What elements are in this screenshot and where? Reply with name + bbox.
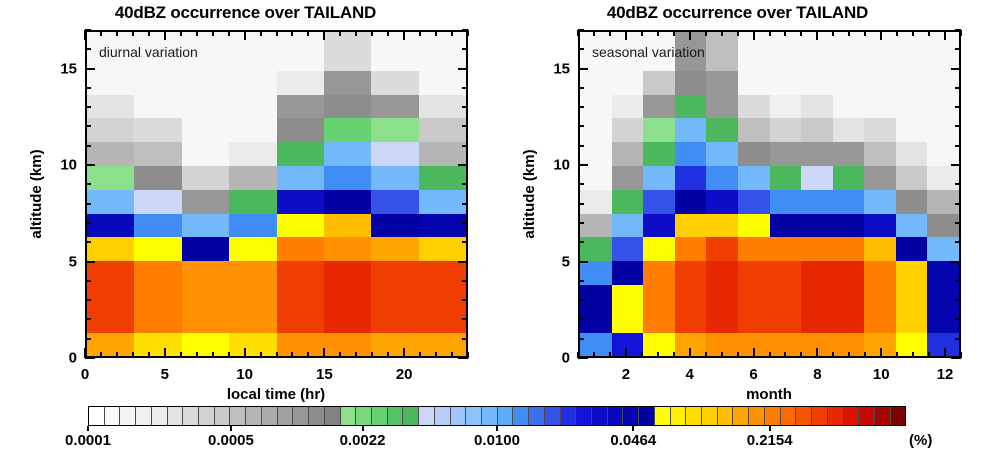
yaxis-minor-tick (578, 222, 584, 224)
heatmap-cell (833, 189, 865, 213)
heatmap-cell (675, 32, 707, 71)
heatmap-cell (706, 237, 738, 261)
heatmap-cell (419, 308, 467, 332)
yaxis-minor-tick (955, 183, 961, 185)
colorbar-segment (341, 407, 357, 425)
heatmap-cell (643, 70, 675, 94)
xaxis-minor-tick (371, 30, 373, 36)
xaxis-minor-tick (148, 352, 150, 358)
heatmap-cell (371, 261, 419, 285)
xaxis-major-tick (753, 348, 755, 358)
colorbar-segment (812, 407, 828, 425)
heatmap-cell (371, 32, 419, 71)
xaxis-minor-tick (784, 352, 786, 358)
yaxis-minor-tick (578, 280, 584, 282)
heatmap-cell (277, 285, 325, 309)
heatmap-cell (229, 32, 277, 71)
xaxis-minor-tick (276, 30, 278, 36)
heatmap-cell (134, 32, 182, 71)
xaxis-minor-tick (928, 30, 930, 36)
heatmap-cell (643, 237, 675, 261)
heatmap-cell (927, 118, 959, 142)
yaxis-tick-label: 10 (536, 157, 570, 174)
yaxis-minor-tick (462, 29, 468, 31)
heatmap-cell (706, 285, 738, 309)
colorbar-tick (87, 426, 89, 431)
yaxis-major-tick (458, 261, 468, 263)
xaxis-minor-tick (339, 30, 341, 36)
xaxis-minor-tick (339, 352, 341, 358)
heatmap-cell (182, 213, 230, 237)
heatmap-cell (277, 237, 325, 261)
yaxis-minor-tick (955, 87, 961, 89)
heatmap-cell (833, 32, 865, 71)
heatmap-cell (371, 165, 419, 189)
colorbar-segment (529, 407, 545, 425)
xaxis-minor-tick (307, 30, 309, 36)
heatmap-cell (134, 118, 182, 142)
heatmap-cell (419, 118, 467, 142)
yaxis-major-tick (578, 357, 588, 359)
heatmap-cell (182, 118, 230, 142)
yaxis-minor-tick (462, 125, 468, 127)
yaxis-minor-tick (462, 280, 468, 282)
heatmap-cell (371, 189, 419, 213)
heatmap-cell (87, 261, 135, 285)
colorbar-segment (105, 407, 121, 425)
yaxis-tick-label: 15 (536, 60, 570, 77)
yaxis-minor-tick (462, 87, 468, 89)
yaxis-tick-label: 15 (43, 60, 77, 77)
yaxis-minor-tick (578, 338, 584, 340)
yaxis-major-tick (85, 164, 95, 166)
colorbar-tick (769, 426, 771, 431)
xaxis-tick-label: 6 (749, 366, 757, 383)
heatmap-cell (896, 308, 928, 332)
heatmap-cell (419, 94, 467, 118)
xaxis-minor-tick (435, 30, 437, 36)
colorbar-segment (749, 407, 765, 425)
heatmap-cell (277, 189, 325, 213)
yaxis-minor-tick (462, 318, 468, 320)
heatmap-cell (770, 70, 802, 94)
heatmap-cell (612, 237, 644, 261)
heatmap-cell (833, 237, 865, 261)
xaxis-minor-tick (641, 352, 643, 358)
heatmap-cell (738, 261, 770, 285)
xaxis-major-tick (816, 348, 818, 358)
yaxis-minor-tick (462, 299, 468, 301)
heatmap-cell (612, 165, 644, 189)
heatmap-cell (612, 70, 644, 94)
heatmap-cell (864, 261, 896, 285)
colorbar-segment (576, 407, 592, 425)
yaxis-major-tick (458, 68, 468, 70)
colorbar-segment (671, 407, 687, 425)
xaxis-tick-label: 20 (396, 366, 413, 383)
heatmap-cell (612, 261, 644, 285)
colorbar-segment (639, 407, 655, 425)
xaxis-minor-tick (180, 30, 182, 36)
heatmap-cell (324, 165, 372, 189)
heatmap-cell (229, 118, 277, 142)
heatmap-cell (801, 94, 833, 118)
colorbar: 0.00010.00050.00220.01000.04640.2154 (%) (0, 404, 983, 464)
xaxis-minor-tick (116, 352, 118, 358)
xaxis-minor-tick (928, 352, 930, 358)
heatmap-cell (371, 70, 419, 94)
yaxis-major-tick (951, 357, 961, 359)
heatmap-cell (675, 237, 707, 261)
heatmap-cell (706, 94, 738, 118)
yaxis-minor-tick (578, 125, 584, 127)
xaxis-major-tick (625, 348, 627, 358)
yaxis-minor-tick (955, 48, 961, 50)
xaxis-tick-label: 4 (686, 366, 694, 383)
heatmap-cell (801, 189, 833, 213)
yaxis-minor-tick (578, 106, 584, 108)
heatmap-cell (87, 118, 135, 142)
heatmap-cell (770, 261, 802, 285)
heatmap-cell (229, 261, 277, 285)
heatmap-cell (896, 285, 928, 309)
heatmap-cell (706, 213, 738, 237)
xaxis-major-tick (689, 348, 691, 358)
heatmap-cell (229, 308, 277, 332)
xaxis-tick-label: 10 (236, 366, 253, 383)
heatmap-cell (277, 332, 325, 356)
heatmap-cell (182, 308, 230, 332)
xaxis-minor-tick (912, 30, 914, 36)
heatmap-cell (801, 165, 833, 189)
heatmap-cell (612, 32, 644, 71)
yaxis-minor-tick (955, 29, 961, 31)
heatmap-cell (182, 165, 230, 189)
heatmap-cell (770, 94, 802, 118)
heatmap-cell (277, 70, 325, 94)
colorbar-segment (293, 407, 309, 425)
colorbar-segment (199, 407, 215, 425)
heatmap-cell (371, 285, 419, 309)
plot-area-seasonal: seasonal variation (578, 30, 961, 358)
heatmap-cell (182, 189, 230, 213)
heatmap-cell (87, 237, 135, 261)
xaxis-minor-tick (100, 30, 102, 36)
heatmap-cell (580, 261, 612, 285)
heatmap-cell (229, 189, 277, 213)
yaxis-tick-label: 0 (43, 350, 77, 367)
heatmap-cell (770, 142, 802, 166)
xaxis-minor-tick (896, 352, 898, 358)
panel-diurnal: 40dBZ occurrence over TAILAND diurnal va… (0, 0, 491, 400)
heatmap-cell (371, 213, 419, 237)
heatmap-cell (738, 70, 770, 94)
heatmap-cell (706, 261, 738, 285)
yaxis-minor-tick (462, 241, 468, 243)
heatmap-cell (277, 261, 325, 285)
heatmap-cell (927, 308, 959, 332)
colorbar-segment (875, 407, 891, 425)
heatmap-cell (643, 285, 675, 309)
heatmap-cell (706, 142, 738, 166)
xaxis-minor-tick (451, 352, 453, 358)
yaxis-tick-label: 0 (536, 350, 570, 367)
xaxis-minor-tick (800, 352, 802, 358)
yaxis-minor-tick (578, 87, 584, 89)
heatmap-cell (182, 285, 230, 309)
yaxis-minor-tick (955, 106, 961, 108)
heatmap-cell (833, 308, 865, 332)
heatmap-cell (801, 118, 833, 142)
colorbar-segment (702, 407, 718, 425)
xaxis-minor-tick (705, 352, 707, 358)
xaxis-minor-tick (864, 352, 866, 358)
heatmap-cell (229, 332, 277, 356)
heatmap-cell (277, 165, 325, 189)
heatmap-cell (612, 94, 644, 118)
yaxis-major-tick (578, 164, 588, 166)
heatmap-cell (580, 94, 612, 118)
xaxis-minor-tick (800, 30, 802, 36)
xaxis-major-tick (403, 348, 405, 358)
colorbar-segment (655, 407, 671, 425)
yaxis-minor-tick (85, 222, 91, 224)
heatmap-cell (580, 32, 612, 71)
heatmap-cell (324, 308, 372, 332)
xaxis-minor-tick (673, 352, 675, 358)
heatmap-cell (833, 70, 865, 94)
heatmap-cell (87, 32, 135, 71)
heatmap-cell (419, 142, 467, 166)
heatmap-cell (612, 118, 644, 142)
colorbar-segment (796, 407, 812, 425)
colorbar-strip (88, 406, 906, 426)
heatmap-cell (864, 189, 896, 213)
colorbar-tick (362, 426, 364, 431)
xaxis-tick-label: 2 (622, 366, 630, 383)
heatmap-cell (738, 165, 770, 189)
heatmap-cell (833, 285, 865, 309)
heatmap-cell (277, 118, 325, 142)
xaxis-minor-tick (180, 352, 182, 358)
yaxis-major-tick (85, 68, 95, 70)
xaxis-major-tick (84, 30, 86, 40)
xaxis-minor-tick (896, 30, 898, 36)
heatmap-cell (229, 213, 277, 237)
xaxis-minor-tick (641, 30, 643, 36)
heatmap-cell (580, 332, 612, 356)
xaxis-minor-tick (435, 352, 437, 358)
colorbar-segment (356, 407, 372, 425)
heatmap-cell (706, 32, 738, 71)
xaxis-minor-tick (609, 30, 611, 36)
yaxis-minor-tick (462, 203, 468, 205)
xaxis-minor-tick (912, 352, 914, 358)
heatmap-cell (675, 261, 707, 285)
heatmap-cell (87, 165, 135, 189)
xaxis-major-tick (164, 348, 166, 358)
heatmap-cell (675, 70, 707, 94)
heatmap-cell (419, 237, 467, 261)
xaxis-minor-tick (260, 30, 262, 36)
heatmap-cell (927, 285, 959, 309)
heatmap-cell (896, 32, 928, 71)
colorbar-segment (168, 407, 184, 425)
yaxis-minor-tick (85, 145, 91, 147)
heatmap-cell (87, 189, 135, 213)
heatmap-cell (706, 118, 738, 142)
yaxis-major-tick (951, 68, 961, 70)
heatmap-cell (419, 189, 467, 213)
heatmap-cell (277, 142, 325, 166)
heatmap-cell (324, 32, 372, 71)
xaxis-minor-tick (371, 352, 373, 358)
heatmap-cell (675, 94, 707, 118)
yaxis-title-seasonal: altitude (km) (521, 149, 538, 238)
colorbar-tick-label: 0.0464 (610, 432, 656, 449)
heatmap-cell (87, 308, 135, 332)
xaxis-minor-tick (609, 352, 611, 358)
heatmap-cell (87, 213, 135, 237)
yaxis-major-tick (951, 164, 961, 166)
heatmap-cell (324, 237, 372, 261)
colorbar-segment (718, 407, 734, 425)
heatmap-cell (324, 285, 372, 309)
heatmap-cell (738, 142, 770, 166)
yaxis-minor-tick (578, 29, 584, 31)
heatmap-cell (134, 94, 182, 118)
colorbar-segment (325, 407, 341, 425)
colorbar-segment (451, 407, 467, 425)
colorbar-segment (498, 407, 514, 425)
heatmap-cell (134, 165, 182, 189)
heatmap-cell (612, 213, 644, 237)
heatmap-cell (612, 142, 644, 166)
heatmap-cell (182, 332, 230, 356)
xaxis-minor-tick (721, 30, 723, 36)
heatmap-cell (580, 70, 612, 94)
heatmap-cell (612, 189, 644, 213)
xaxis-minor-tick (260, 352, 262, 358)
yaxis-minor-tick (462, 338, 468, 340)
yaxis-minor-tick (462, 106, 468, 108)
heatmap-cell (738, 94, 770, 118)
heatmap-cell (706, 189, 738, 213)
yaxis-minor-tick (955, 299, 961, 301)
heatmap-cell (643, 94, 675, 118)
yaxis-minor-tick (955, 280, 961, 282)
heatmap-cell (706, 308, 738, 332)
heatmap-cell (643, 189, 675, 213)
yaxis-minor-tick (85, 48, 91, 50)
colorbar-segment (545, 407, 561, 425)
heatmap-cell (833, 261, 865, 285)
yaxis-minor-tick (85, 338, 91, 340)
heatmap-cell (580, 285, 612, 309)
colorbar-tick-label: 0.2154 (747, 432, 793, 449)
xaxis-minor-tick (276, 352, 278, 358)
heatmap-cell (580, 142, 612, 166)
yaxis-minor-tick (85, 318, 91, 320)
colorbar-segment (278, 407, 294, 425)
yaxis-minor-tick (955, 203, 961, 205)
heatmap-cell (229, 165, 277, 189)
colorbar-segment (623, 407, 639, 425)
xaxis-minor-tick (387, 30, 389, 36)
heatmap-cell (896, 142, 928, 166)
yaxis-minor-tick (955, 338, 961, 340)
heatmap-cell (770, 213, 802, 237)
colorbar-segment (765, 407, 781, 425)
heatmap-cell (770, 285, 802, 309)
xaxis-minor-tick (291, 352, 293, 358)
heatmap-cell (371, 94, 419, 118)
heatmap-cell (134, 213, 182, 237)
xaxis-minor-tick (196, 352, 198, 358)
heatmap-cell (864, 165, 896, 189)
heatmap-cell (833, 213, 865, 237)
heatmap-cell (738, 189, 770, 213)
xaxis-minor-tick (657, 352, 659, 358)
heatmap-cell (770, 237, 802, 261)
colorbar-tick-label: 0.0100 (474, 432, 520, 449)
xaxis-minor-tick (673, 30, 675, 36)
heatmap-cell (770, 118, 802, 142)
heatmap-cell (419, 32, 467, 71)
xaxis-minor-tick (769, 352, 771, 358)
heatmap-cell (896, 70, 928, 94)
heatmap-cell (643, 261, 675, 285)
yaxis-minor-tick (85, 203, 91, 205)
heatmap-cell (801, 308, 833, 332)
heatmap-cell (182, 94, 230, 118)
colorbar-segment (608, 407, 624, 425)
heatmap-cell (675, 285, 707, 309)
yaxis-minor-tick (578, 318, 584, 320)
heatmap-cell (643, 308, 675, 332)
heatmap-cell (612, 285, 644, 309)
colorbar-segment (733, 407, 749, 425)
xaxis-minor-tick (355, 30, 357, 36)
heatmap-cell (182, 142, 230, 166)
xaxis-minor-tick (228, 352, 230, 358)
colorbar-segment (120, 407, 136, 425)
heatmap-cell (864, 308, 896, 332)
yaxis-minor-tick (955, 318, 961, 320)
xaxis-major-tick (880, 30, 882, 40)
heatmap-cell (738, 308, 770, 332)
heatmap-cell (801, 285, 833, 309)
xaxis-tick-label: 8 (813, 366, 821, 383)
colorbar-segment (372, 407, 388, 425)
heatmap-cell (277, 213, 325, 237)
xaxis-minor-tick (132, 352, 134, 358)
heatmap-cell (643, 118, 675, 142)
xaxis-title-seasonal: month (746, 386, 792, 403)
colorbar-segment (482, 407, 498, 425)
colorbar-tick-label: 0.0005 (208, 432, 254, 449)
colorbar-segment (246, 407, 262, 425)
heatmap-cell (896, 213, 928, 237)
heatmap-cell (134, 332, 182, 356)
heatmap-cell (801, 261, 833, 285)
xaxis-major-tick (880, 348, 882, 358)
heatmap-cell (324, 261, 372, 285)
heatmap-cell (229, 94, 277, 118)
xaxis-minor-tick (832, 30, 834, 36)
heatmap-cell (182, 32, 230, 71)
heatmap-cell (371, 332, 419, 356)
